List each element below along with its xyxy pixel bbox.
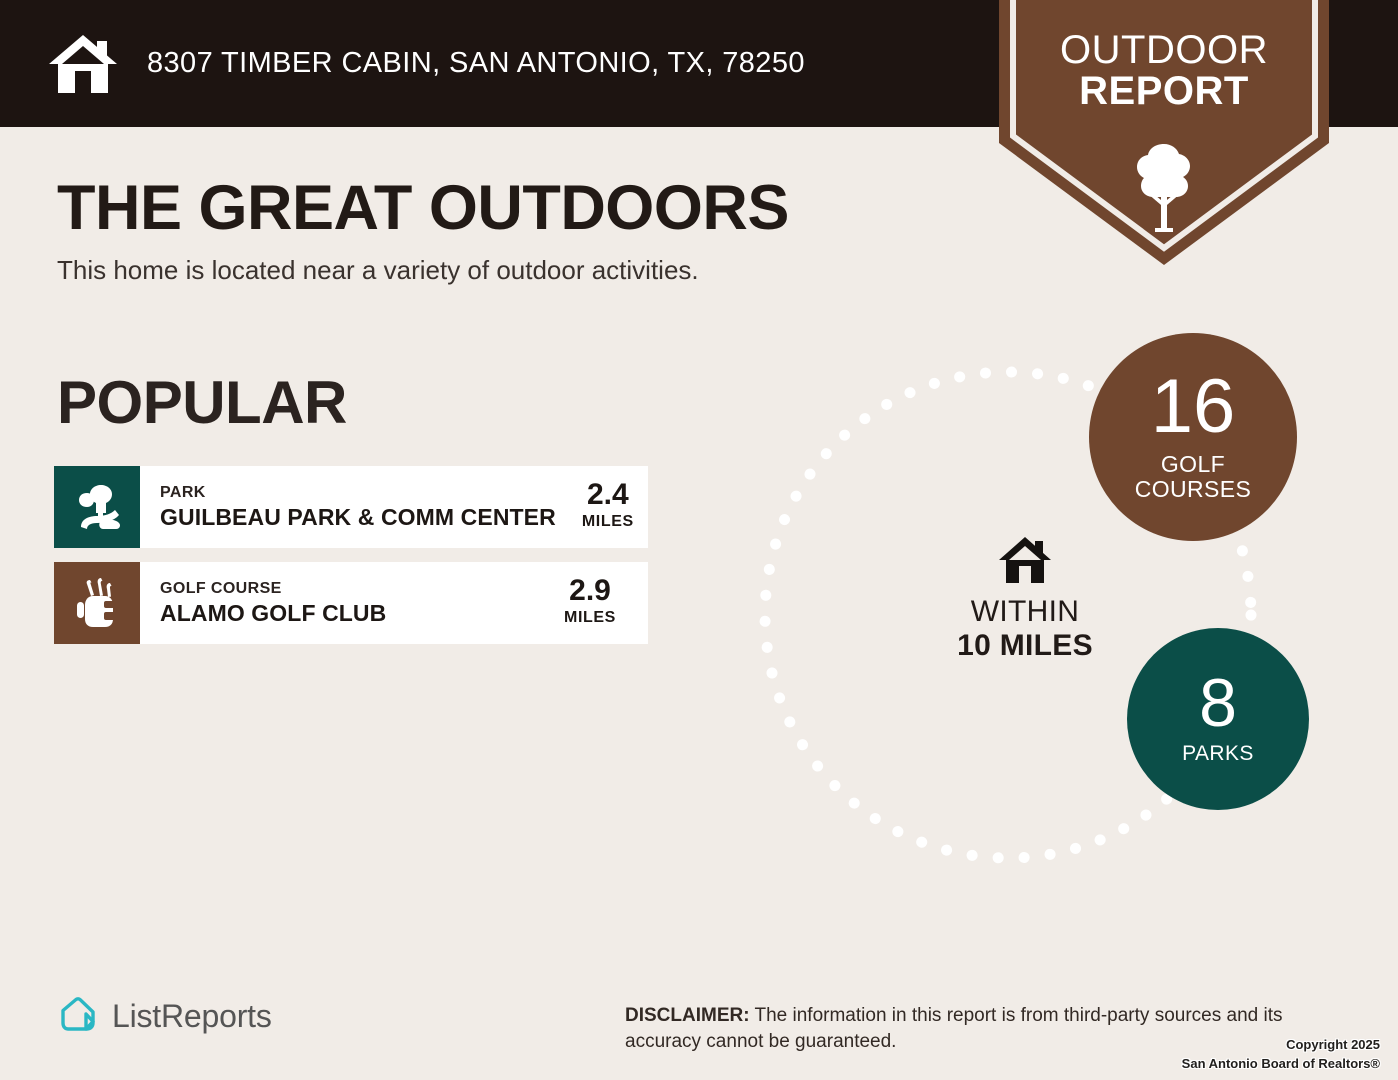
listreports-logo[interactable]: ListReports [57, 995, 272, 1037]
distance-value: 2.9 [569, 576, 611, 606]
golf-label: GOLF COURSES [1135, 452, 1252, 502]
list-item-category: GOLF COURSE [160, 579, 538, 599]
list-item-text: PARK GUILBEAU PARK & COMM CENTER [140, 466, 556, 548]
golf-bag-icon-box [54, 562, 140, 644]
stat-circle-golf-courses: 16 GOLF COURSES [1089, 333, 1297, 541]
distance-value: 2.4 [587, 480, 629, 510]
list-item[interactable]: PARK GUILBEAU PARK & COMM CENTER 2.4 MIL… [54, 466, 648, 548]
copyright-line-2: San Antonio Board of Realtors® [1182, 1055, 1380, 1074]
home-icon [47, 33, 119, 95]
list-item-distance: 2.9 MILES [538, 562, 648, 644]
listreports-house-tag-icon [57, 995, 99, 1037]
diagram-center-block: WITHIN 10 MILES [925, 535, 1125, 662]
list-item-distance: 2.4 MILES [556, 466, 666, 548]
tree-icon [1135, 142, 1193, 234]
property-address: 8307 TIMBER CABIN, SAN ANTONIO, TX, 7825… [147, 47, 805, 80]
copyright-line-1: Copyright 2025 [1182, 1036, 1380, 1055]
distance-unit: MILES [582, 510, 634, 534]
list-item-text: GOLF COURSE ALAMO GOLF CLUB [140, 562, 538, 644]
within-10-miles-diagram: 16 GOLF COURSES 8 PARKS WITHIN 10 MILES [745, 330, 1345, 910]
parks-count: 8 [1199, 672, 1237, 735]
popular-list: PARK GUILBEAU PARK & COMM CENTER 2.4 MIL… [54, 466, 648, 658]
golf-bag-icon [74, 577, 120, 629]
stat-circle-parks: 8 PARKS [1127, 628, 1309, 810]
golf-label-line-1: GOLF [1161, 451, 1225, 477]
within-label: WITHIN [925, 595, 1125, 629]
golf-count: 16 [1151, 372, 1236, 442]
distance-unit: MILES [564, 606, 616, 630]
copyright: Copyright 2025 San Antonio Board of Real… [1182, 1036, 1380, 1074]
listreports-wordmark: ListReports [112, 998, 272, 1035]
list-item-name: GUILBEAU PARK & COMM CENTER [160, 503, 556, 531]
page-subtitle: This home is located near a variety of o… [57, 255, 699, 286]
page-title: THE GREAT OUTDOORS [57, 172, 789, 244]
list-item-name: ALAMO GOLF CLUB [160, 599, 538, 627]
home-icon [997, 535, 1053, 585]
list-item-category: PARK [160, 483, 556, 503]
park-icon [71, 483, 123, 531]
parks-label: PARKS [1182, 743, 1254, 766]
list-item[interactable]: GOLF COURSE ALAMO GOLF CLUB 2.9 MILES [54, 562, 648, 644]
park-icon-box [54, 466, 140, 548]
section-title-popular: POPULAR [57, 368, 347, 437]
disclaimer-label: DISCLAIMER: [625, 1005, 750, 1026]
within-distance: 10 MILES [925, 629, 1125, 663]
golf-label-line-2: COURSES [1135, 476, 1252, 502]
outdoor-report-badge: OUTDOOR REPORT [999, 0, 1329, 265]
